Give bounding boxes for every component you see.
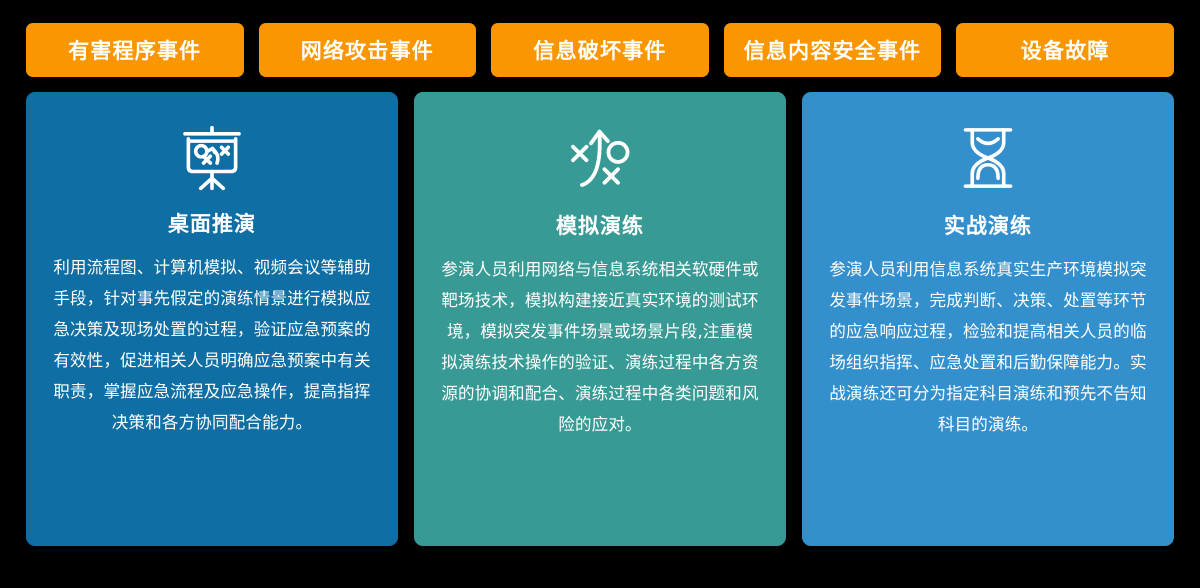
tab-label: 信息破坏事件: [533, 35, 666, 65]
tab-information-destruction-events[interactable]: 信息破坏事件: [491, 23, 709, 77]
card-body-text: 利用流程图、计算机模拟、视频会议等辅助手段，针对事先假定的演练情景进行模拟应急决…: [52, 252, 372, 438]
tab-equipment-failure[interactable]: 设备故障: [956, 23, 1174, 77]
drill-type-card-row: 桌面推演 利用流程图、计算机模拟、视频会议等辅助手段，针对事先假定的演练情景进行…: [26, 92, 1174, 546]
tab-malicious-program-events[interactable]: 有害程序事件: [26, 23, 244, 77]
card-simulation-drill[interactable]: 模拟演练 参演人员利用网络与信息系统相关软硬件或靶场技术，模拟构建接近真实环境的…: [414, 92, 786, 546]
tab-label: 网络攻击事件: [301, 35, 434, 65]
strategy-playbook-icon: [564, 122, 636, 194]
tab-label: 有害程序事件: [68, 35, 201, 65]
tab-network-attack-events[interactable]: 网络攻击事件: [259, 23, 477, 77]
page-root: 有害程序事件 网络攻击事件 信息破坏事件 信息内容安全事件 设备故障: [0, 0, 1200, 588]
presentation-board-tactics-icon: [176, 122, 248, 194]
tab-label: 设备故障: [1021, 35, 1110, 65]
hourglass-icon: [952, 122, 1024, 194]
card-tabletop-exercise[interactable]: 桌面推演 利用流程图、计算机模拟、视频会议等辅助手段，针对事先假定的演练情景进行…: [26, 92, 398, 546]
card-body-text: 参演人员利用信息系统真实生产环境模拟突发事件场景，完成判断、决策、处置等环节的应…: [828, 254, 1148, 440]
card-live-drill[interactable]: 实战演练 参演人员利用信息系统真实生产环境模拟突发事件场景，完成判断、决策、处置…: [802, 92, 1174, 546]
event-type-tab-row: 有害程序事件 网络攻击事件 信息破坏事件 信息内容安全事件 设备故障: [26, 23, 1174, 77]
card-title: 桌面推演: [168, 208, 256, 238]
card-title: 实战演练: [944, 210, 1032, 240]
tab-label: 信息内容安全事件: [744, 35, 922, 65]
tab-information-content-security-events[interactable]: 信息内容安全事件: [724, 23, 942, 77]
card-body-text: 参演人员利用网络与信息系统相关软硬件或靶场技术，模拟构建接近真实环境的测试环境，…: [440, 254, 760, 440]
card-title: 模拟演练: [556, 210, 644, 240]
